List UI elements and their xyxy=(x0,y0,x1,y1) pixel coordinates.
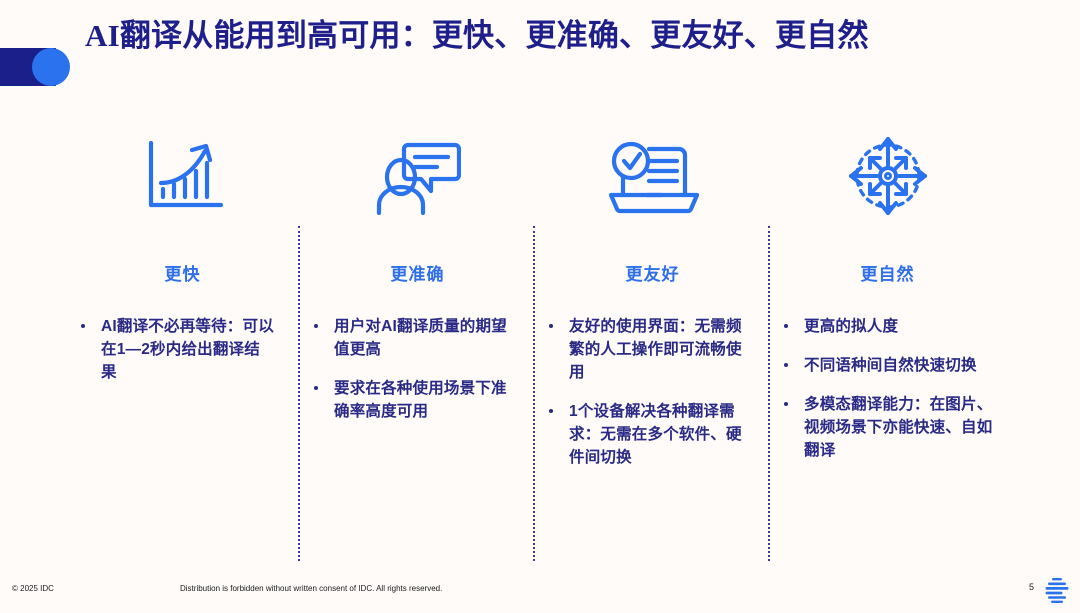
bullet-list: 友好的使用界面：无需频繁的人工操作即可流畅使用 1个设备解决各种翻译需求：无需在… xyxy=(543,315,743,469)
laptop-document-check-icon xyxy=(535,130,770,222)
list-item-text: 用户对AI翻译质量的期望值更高 xyxy=(334,318,507,358)
column-heading: 更自然 xyxy=(770,260,1005,285)
list-item: 用户对AI翻译质量的期望值更高 xyxy=(308,315,513,361)
list-item-text: 更高的拟人度 xyxy=(804,318,898,335)
feature-column-accurate: 更准确 用户对AI翻译质量的期望值更高 要求在各种使用场景下准确率高度可用 xyxy=(300,130,535,570)
list-item-text: 友好的使用界面：无需频繁的人工操作即可流畅使用 xyxy=(569,318,742,381)
list-item: 不同语种间自然快速切换 xyxy=(778,354,993,377)
list-item: 要求在各种使用场景下准确率高度可用 xyxy=(308,377,513,423)
slide-footer: © 2025 IDC Distribution is forbidden wit… xyxy=(0,570,1080,612)
title-decoration xyxy=(0,48,68,86)
list-item-text: AI翻译不必再等待：可以在1—2秒内给出翻译结果 xyxy=(101,318,274,381)
list-item: 友好的使用界面：无需频繁的人工操作即可流畅使用 xyxy=(543,315,743,384)
list-item: 1个设备解决各种翻译需求：无需在多个软件、硬件间切换 xyxy=(543,400,743,469)
bullet-dot-icon xyxy=(784,324,788,328)
feature-column-natural: 更自然 更高的拟人度 不同语种间自然快速切换 多模态翻译能力：在图片、视频场景下… xyxy=(770,130,1005,570)
footer-notice: Distribution is forbidden without writte… xyxy=(180,584,442,593)
list-item-text: 1个设备解决各种翻译需求：无需在多个软件、硬件间切换 xyxy=(569,403,742,466)
bullet-list: 用户对AI翻译质量的期望值更高 要求在各种使用场景下准确率高度可用 xyxy=(308,315,513,423)
bullet-list: AI翻译不必再等待：可以在1—2秒内给出翻译结果 xyxy=(75,315,275,384)
bullet-dot-icon xyxy=(549,409,553,413)
column-heading: 更快 xyxy=(65,260,300,285)
column-heading: 更准确 xyxy=(300,260,535,285)
idc-globe-logo xyxy=(1042,574,1072,608)
list-item: 更高的拟人度 xyxy=(778,315,993,338)
list-item-text: 不同语种间自然快速切换 xyxy=(804,357,977,374)
footer-copyright: © 2025 IDC xyxy=(12,584,54,593)
bullet-dot-icon xyxy=(784,363,788,367)
bullet-dot-icon xyxy=(314,324,318,328)
page-number: 5 xyxy=(1029,582,1034,592)
feature-column-faster: 更快 AI翻译不必再等待：可以在1—2秒内给出翻译结果 xyxy=(65,130,300,570)
compass-multidirectional-icon xyxy=(770,130,1005,222)
bullet-dot-icon xyxy=(314,386,318,390)
list-item: AI翻译不必再等待：可以在1—2秒内给出翻译结果 xyxy=(75,315,275,384)
list-item-text: 多模态翻译能力：在图片、视频场景下亦能快速、自如翻译 xyxy=(804,396,992,459)
bullet-dot-icon xyxy=(81,324,85,328)
person-speech-bubble-icon xyxy=(300,130,535,222)
decoration-circle-icon xyxy=(32,48,70,86)
feature-columns: 更快 AI翻译不必再等待：可以在1—2秒内给出翻译结果 更准确 用户对AI翻译质… xyxy=(0,130,1080,570)
page-title: AI翻译从能用到高可用：更快、更准确、更友好、更自然 xyxy=(85,14,985,57)
bar-chart-growth-icon xyxy=(65,130,300,222)
feature-column-friendly: 更友好 友好的使用界面：无需频繁的人工操作即可流畅使用 1个设备解决各种翻译需求… xyxy=(535,130,770,570)
list-item-text: 要求在各种使用场景下准确率高度可用 xyxy=(334,380,507,420)
column-heading: 更友好 xyxy=(535,260,770,285)
list-item: 多模态翻译能力：在图片、视频场景下亦能快速、自如翻译 xyxy=(778,393,993,462)
bullet-dot-icon xyxy=(784,402,788,406)
bullet-dot-icon xyxy=(549,324,553,328)
bullet-list: 更高的拟人度 不同语种间自然快速切换 多模态翻译能力：在图片、视频场景下亦能快速… xyxy=(778,315,993,462)
slide-header: AI翻译从能用到高可用：更快、更准确、更友好、更自然 xyxy=(0,0,1080,120)
